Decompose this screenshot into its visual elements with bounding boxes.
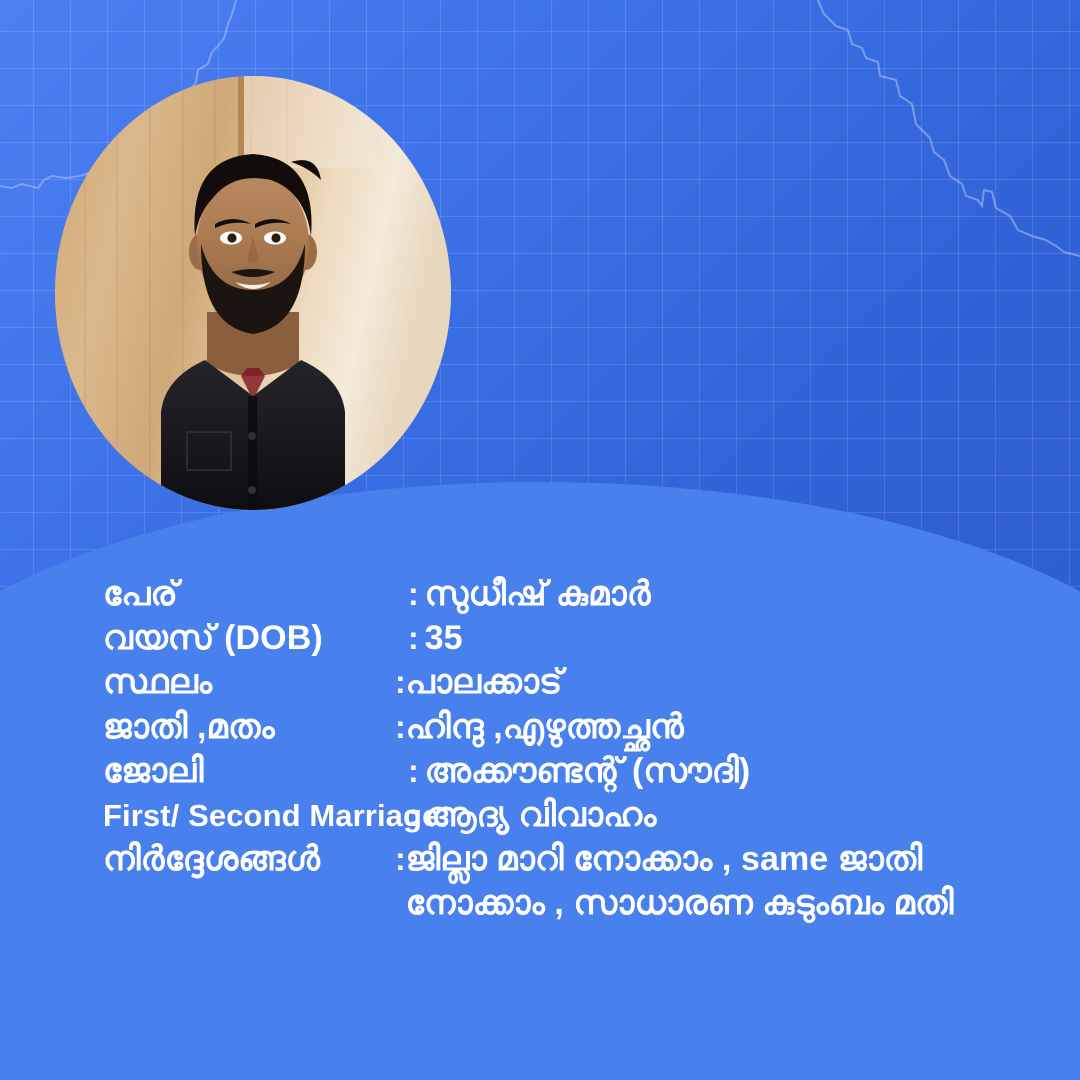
detail-value-age: 35 <box>425 616 463 660</box>
detail-label-place: സ്ഥലം <box>103 660 395 704</box>
detail-value-name: സുധീഷ് കുമാർ <box>425 572 651 616</box>
detail-row-caste-religion: ജാതി ,മതം : ഹിന്ദു ,എഴുത്തച്ഛൻ <box>103 705 1043 749</box>
detail-colon: : <box>408 618 425 660</box>
detail-label-marriage: First/ Second Marriage <box>103 796 408 836</box>
detail-row-place: സ്ഥലം : പാലക്കാട് <box>103 660 1043 704</box>
profile-details-list: പേര് : സുധീഷ് കുമാർ വയസ് (DOB) : 35 സ്ഥല… <box>103 572 1043 926</box>
detail-row-name: പേര് : സുധീഷ് കുമാർ <box>103 572 1043 616</box>
profile-card: പേര് : സുധീഷ് കുമാർ വയസ് (DOB) : 35 സ്ഥല… <box>0 0 1080 1080</box>
detail-label-caste-religion: ജാതി ,മതം <box>103 705 395 749</box>
detail-row-marriage: First/ Second Marriage : ആദ്യ വിവാഹം <box>103 793 1043 837</box>
detail-row-preferences: നിർദ്ദേശങ്ങൾ : ജില്ലാ മാറി നോക്കാം , sam… <box>103 837 1043 925</box>
detail-value-marriage: ആദ്യ വിവാഹം <box>425 793 657 837</box>
detail-colon: : <box>408 574 425 616</box>
detail-label-job: ജോലി <box>103 749 408 793</box>
detail-label-name: പേര് <box>103 572 408 616</box>
avatar <box>55 76 451 510</box>
detail-colon: : <box>408 795 425 837</box>
detail-colon: : <box>408 751 425 793</box>
detail-row-age: വയസ് (DOB) : 35 <box>103 616 1043 660</box>
profile-photo-image <box>55 76 451 510</box>
detail-value-place: പാലക്കാട് <box>406 660 563 704</box>
detail-label-preferences: നിർദ്ദേശങ്ങൾ <box>103 837 395 881</box>
detail-value-preferences: ജില്ലാ മാറി നോക്കാം , same ജാതി നോക്കാം … <box>406 837 1043 925</box>
detail-row-job: ജോലി : അക്കൗണ്ടന്റ് (സൗദി) <box>103 749 1043 793</box>
detail-label-age: വയസ് (DOB) <box>103 616 408 660</box>
detail-value-caste-religion: ഹിന്ദു ,എഴുത്തച്ഛൻ <box>406 705 684 749</box>
detail-value-job: അക്കൗണ്ടന്റ് (സൗദി) <box>425 749 751 793</box>
